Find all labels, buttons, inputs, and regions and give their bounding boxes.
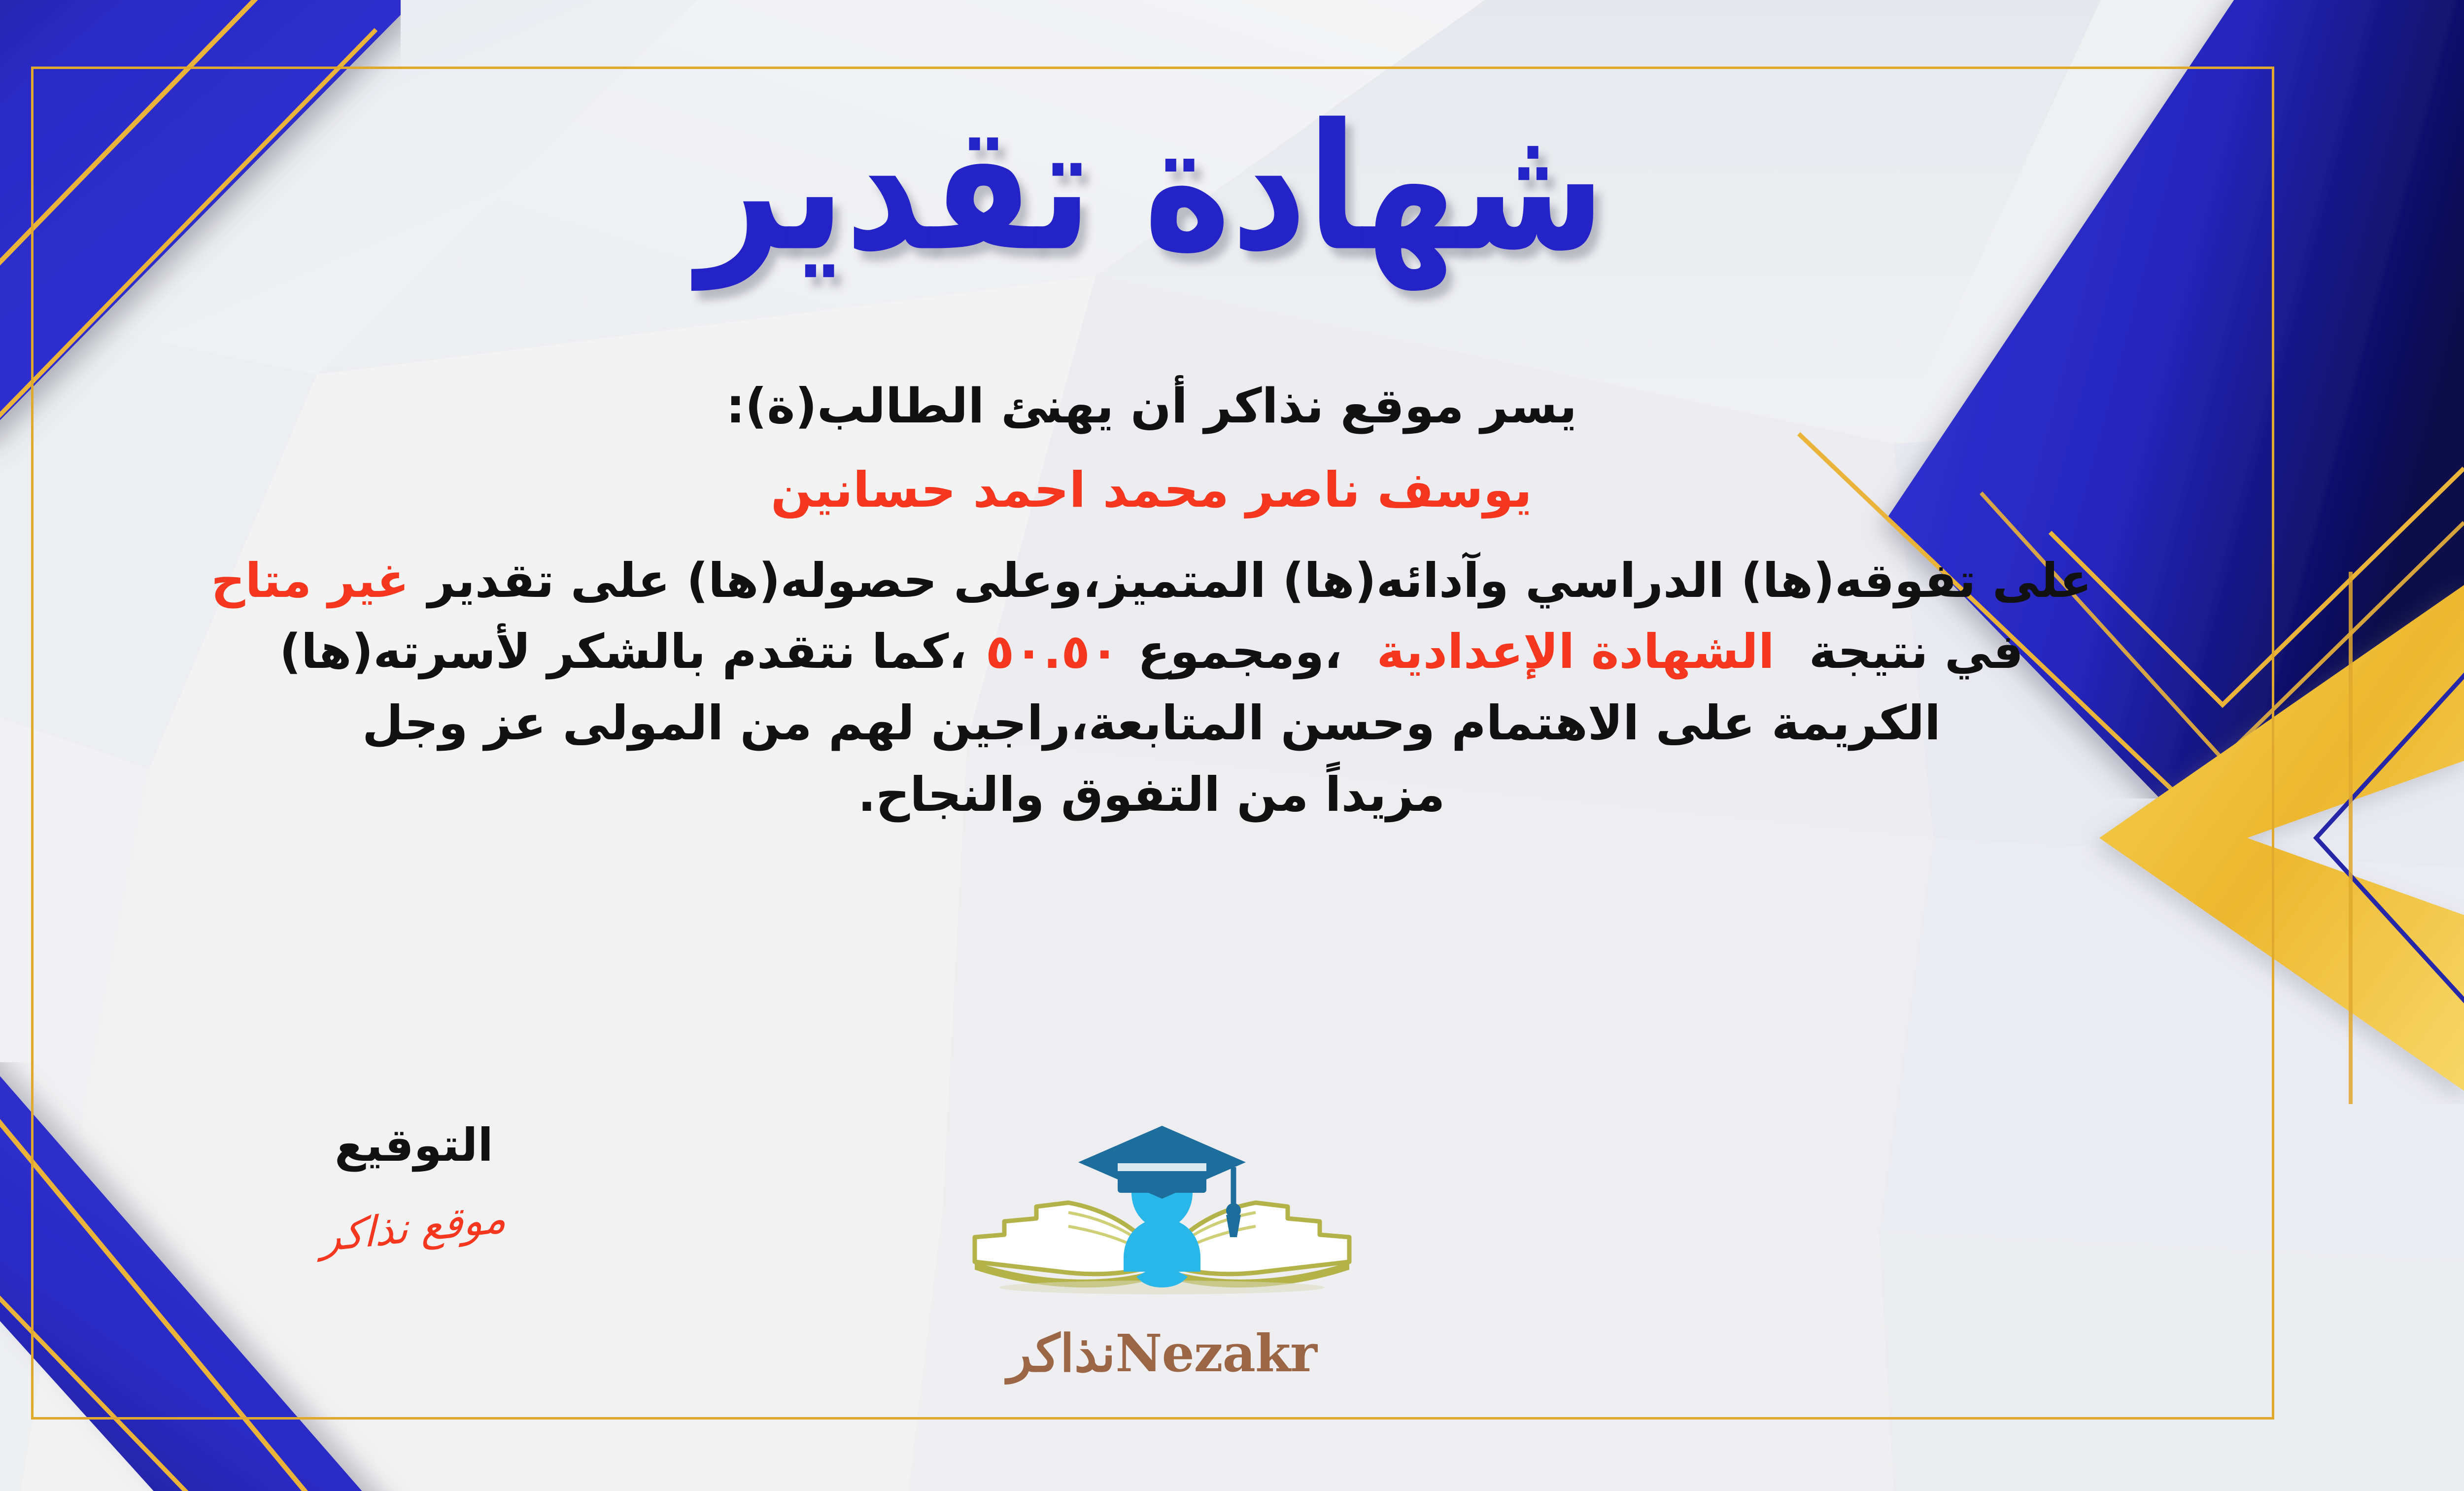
signature-label: التوقيع [227, 1119, 601, 1172]
graduate-book-icon [945, 1114, 1379, 1326]
exam-name: الشهادة الإعدادية [1376, 624, 1774, 679]
certificate-footer: التوقيع موقع نذاكر [0, 1109, 2464, 1424]
signature-block: التوقيع موقع نذاكر [227, 1119, 601, 1251]
body-line-1: على تفوقه(ها) الدراسي وآدائه(ها) المتميز… [46, 550, 2257, 612]
body-line-2-prefix: في نتيجة [1809, 624, 2023, 679]
total-score: ٥٠.٥٠ [986, 624, 1119, 679]
body-line-4: مزيداً من التفوق والنجاح. [46, 763, 2257, 826]
certificate-canvas: شهادة تقدير يسر موقع نذاكر أن يهنئ الطال… [0, 0, 2464, 1491]
body-line-2-middle: ،ومجموع [1138, 624, 1342, 679]
certificate-title: شهادة تقدير [697, 101, 1605, 276]
student-name: يوسف ناصر محمد احمد حسانين [771, 458, 1532, 523]
body-line-2: في نتيجةالشهادة الإعدادية،ومجموع٥٠.٥٠،كم… [46, 621, 2257, 683]
brand-wordmark: Nezakrنذاكر [945, 1323, 1379, 1384]
brand-logo: Nezakrنذاكر [945, 1114, 1379, 1384]
body-line-1-text: على تفوقه(ها) الدراسي وآدائه(ها) المتميز… [428, 553, 2092, 608]
signature-handwritten: موقع نذاكر [321, 1193, 506, 1261]
intro-line: يسر موقع نذاكر أن يهنئ الطالب(ة): [726, 375, 1577, 438]
grade-value: غير متاح [211, 553, 409, 608]
body-line-3: الكريمة على الاهتمام وحسن المتابعة،راجين… [46, 692, 2257, 755]
body-line-2-suffix: ،كما نتقدم بالشكر لأسرته(ها) [279, 624, 967, 679]
